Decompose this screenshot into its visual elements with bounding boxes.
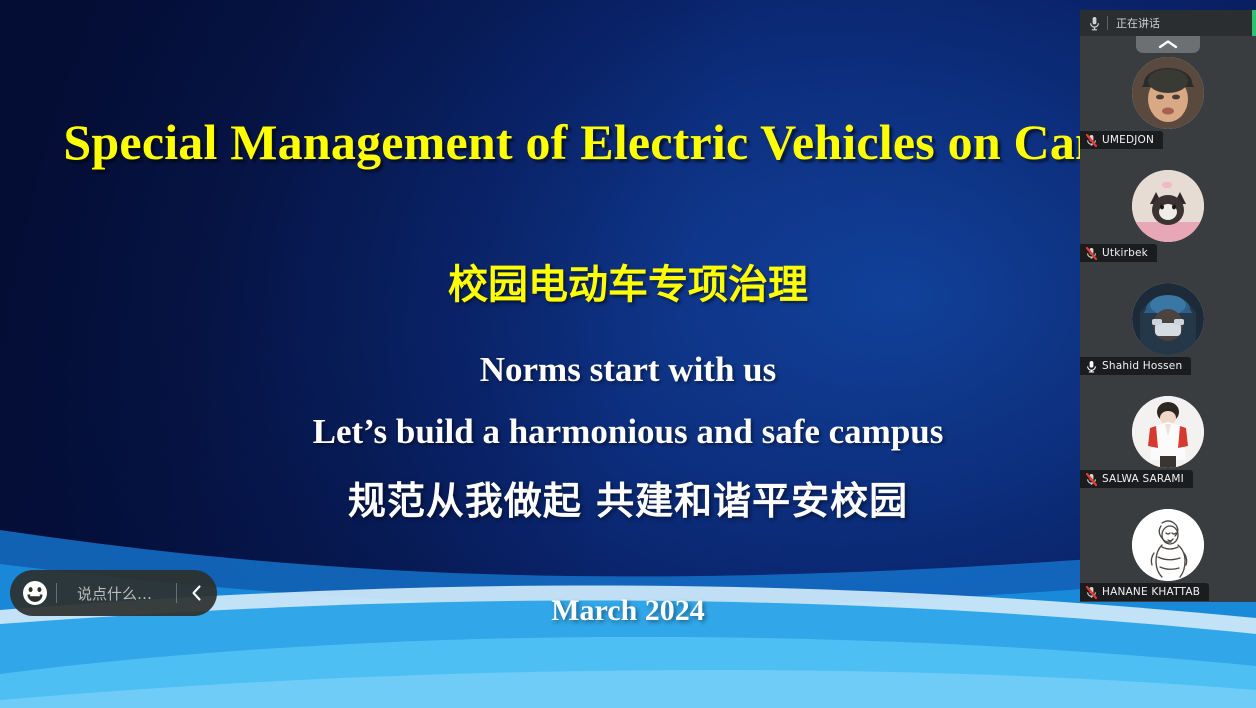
participant-name: UMEDJON [1102, 134, 1154, 146]
speaking-indicator [1252, 10, 1256, 36]
participant-tile[interactable]: HANANE KHATTAB [1080, 488, 1256, 601]
participant-name: Utkirbek [1102, 247, 1148, 259]
active-speaker-bar: 正在讲话 [1080, 10, 1256, 36]
participant-nametag: HANANE KHATTAB [1080, 583, 1209, 601]
microphone-icon [1087, 15, 1101, 31]
smiley-icon[interactable] [18, 576, 52, 610]
participant-nametag: SALWA SARAMI [1080, 470, 1193, 488]
composer-divider-right [176, 583, 177, 603]
slide-slogan-chinese: 规范从我做起 共建和谐平安校园 [0, 470, 1256, 525]
participant-name: SALWA SARAMI [1102, 473, 1184, 485]
slide-title-chinese: 校园电动车专项治理 [0, 252, 1256, 310]
slide-title-english: Special Management of Electric Vehicles … [0, 108, 1256, 176]
participant-tiles[interactable]: UMEDJON [1080, 36, 1256, 602]
avatar [1132, 396, 1204, 468]
chevron-left-icon[interactable] [181, 576, 211, 610]
composer-divider-left [56, 583, 57, 603]
microphone-muted-icon [1085, 585, 1097, 599]
microphone-icon [1085, 359, 1097, 373]
slide-slogan-english-line2: Let’s build a harmonious and safe campus [0, 412, 1256, 452]
participant-name: HANANE KHATTAB [1102, 586, 1200, 598]
participant-nametag: UMEDJON [1080, 131, 1163, 149]
participant-nametag: Utkirbek [1080, 244, 1157, 262]
speaker-bar-divider [1107, 16, 1108, 30]
participant-nametag: Shahid Hossen [1080, 357, 1191, 375]
microphone-muted-icon [1085, 133, 1097, 147]
microphone-muted-icon [1085, 472, 1097, 486]
participant-name: Shahid Hossen [1102, 360, 1182, 372]
chevron-up-icon[interactable] [1136, 36, 1200, 53]
microphone-muted-icon [1085, 246, 1097, 260]
avatar [1132, 509, 1204, 581]
participant-filmstrip[interactable]: 正在讲话 [1080, 10, 1256, 602]
participant-tile[interactable]: Utkirbek [1080, 149, 1256, 262]
chat-input-placeholder[interactable]: 说点什么… [61, 583, 172, 604]
participant-tile[interactable]: Shahid Hossen [1080, 262, 1256, 375]
chat-composer[interactable]: 说点什么… [10, 570, 217, 616]
screen-share-meeting-view: Special Management of Electric Vehicles … [0, 0, 1256, 708]
avatar [1132, 283, 1204, 355]
participant-tile[interactable]: SALWA SARAMI [1080, 375, 1256, 488]
avatar [1132, 170, 1204, 242]
slide-slogan-english-line1: Norms start with us [0, 350, 1256, 390]
active-speaker-label: 正在讲话 [1116, 15, 1160, 31]
avatar [1132, 57, 1204, 129]
